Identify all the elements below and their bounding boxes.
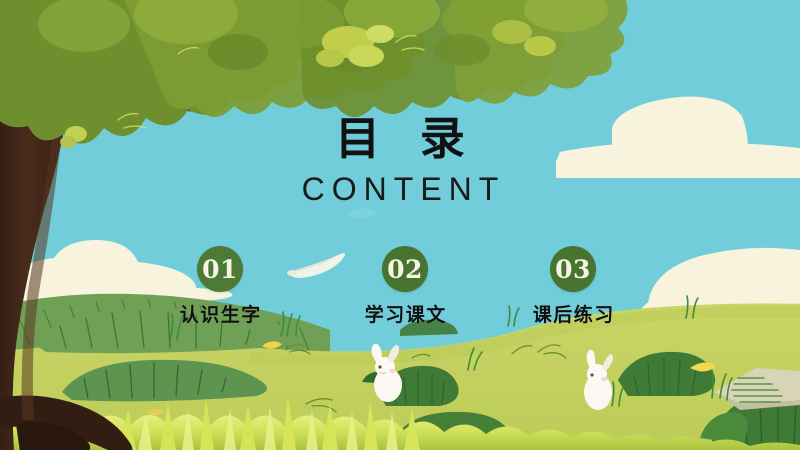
agenda-label-01[interactable]: 认识生字 bbox=[130, 300, 310, 327]
agenda-number-badge-02[interactable]: 02 bbox=[382, 246, 428, 292]
background-illustration bbox=[0, 0, 800, 450]
presentation-slide: 目 录 CONTENT 01 认识生字 02 学习课文 03 课后练习 bbox=[0, 0, 800, 450]
agenda-label-03[interactable]: 课后练习 bbox=[483, 300, 663, 327]
agenda-label-02[interactable]: 学习课文 bbox=[315, 300, 495, 327]
agenda-number-badge-03[interactable]: 03 bbox=[550, 246, 596, 292]
agenda-item-02[interactable]: 02 学习课文 bbox=[315, 246, 495, 327]
agenda-number-badge-01[interactable]: 01 bbox=[197, 246, 243, 292]
agenda-item-01[interactable]: 01 认识生字 bbox=[130, 246, 310, 327]
agenda-list: 01 认识生字 02 学习课文 03 课后练习 bbox=[0, 246, 800, 336]
agenda-item-03[interactable]: 03 课后练习 bbox=[483, 246, 663, 327]
